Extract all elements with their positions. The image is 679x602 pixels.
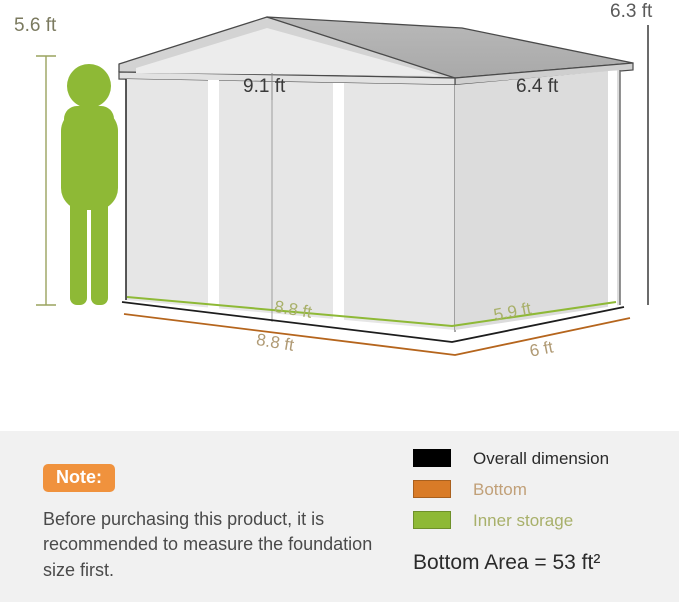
- diagram-area: 5.6 ft 6.3 ft 9.1 ft 6.4 ft 8.8 ft 8.8 f…: [0, 0, 679, 431]
- legend: Overall dimension Bottom Inner storage: [413, 449, 609, 542]
- bottom-area-summary: Bottom Area = 53 ft²: [413, 551, 600, 575]
- note-text: Before purchasing this product, it is re…: [43, 507, 373, 584]
- legend-swatch-overall-dimension: [413, 449, 451, 467]
- legend-swatch-inner-storage: [413, 511, 451, 529]
- note-badge: Note:: [43, 464, 115, 492]
- legend-label-bottom: Bottom: [473, 481, 527, 498]
- legend-label-overall-dimension: Overall dimension: [473, 450, 609, 467]
- dimension-line-person-height: [36, 56, 56, 305]
- front-wall: [126, 79, 455, 332]
- legend-item-inner-storage: Inner storage: [413, 511, 609, 529]
- person-silhouette-icon: [61, 64, 118, 305]
- info-panel: Note: Before purchasing this product, it…: [0, 431, 679, 602]
- note-block: Note: Before purchasing this product, it…: [43, 464, 373, 583]
- legend-item-bottom: Bottom: [413, 480, 609, 498]
- legend-item-overall-dimension: Overall dimension: [413, 449, 609, 467]
- shed-dimension-infographic: 5.6 ft 6.3 ft 9.1 ft 6.4 ft 8.8 ft 8.8 f…: [0, 0, 679, 602]
- shed-illustration: [0, 0, 679, 431]
- side-wall: [455, 70, 620, 330]
- legend-label-inner-storage: Inner storage: [473, 512, 573, 529]
- legend-swatch-bottom: [413, 480, 451, 498]
